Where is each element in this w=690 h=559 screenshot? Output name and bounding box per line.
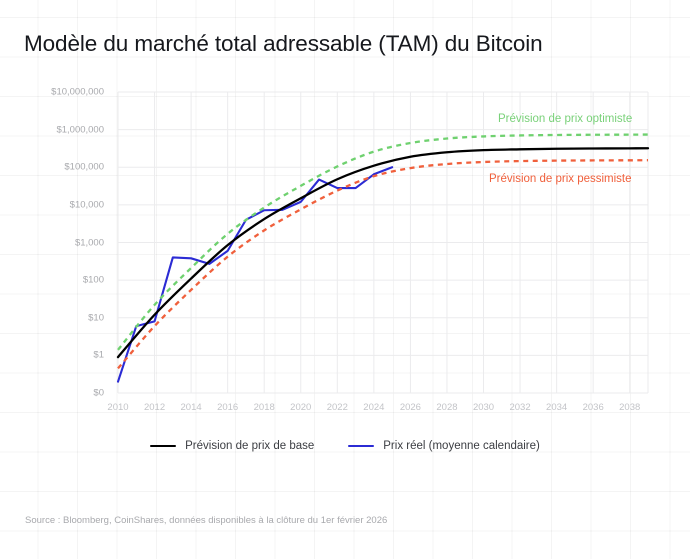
x-axis-tick-label: 2018 [254, 402, 275, 413]
legend-swatch-line-icon [348, 445, 374, 448]
series-lines [118, 135, 648, 382]
series-line [118, 167, 392, 381]
y-axis-tick-label: $10 [0, 312, 104, 323]
x-axis-tick-label: 2034 [546, 402, 567, 413]
x-axis-tick-label: 2016 [217, 402, 238, 413]
x-axis-tick-label: 2038 [619, 402, 640, 413]
x-axis-tick-label: 2010 [107, 402, 128, 413]
x-axis-tick-label: 2036 [583, 402, 604, 413]
x-axis-tick-label: 2032 [509, 402, 530, 413]
x-axis-tick-label: 2022 [327, 402, 348, 413]
y-axis-tick-label: $100 [0, 275, 104, 286]
legend-item-base-forecast: Prévision de prix de base [150, 440, 314, 452]
source-note: Source : Bloomberg, CoinShares, données … [25, 515, 387, 526]
series-line [118, 160, 648, 368]
legend-item-label: Prix réel (moyenne calendaire) [383, 440, 540, 452]
legend-item-actual-price: Prix réel (moyenne calendaire) [348, 440, 540, 452]
y-axis-tick-label: $0 [0, 388, 104, 399]
y-axis-tick-label: $1,000 [0, 237, 104, 248]
y-axis-tick-label: $100,000 [0, 162, 104, 173]
chart-plot-area: $10,000,000$1,000,000$100,000$10,000$1,0… [0, 0, 690, 559]
gridlines [118, 92, 648, 393]
chart-legend: Prévision de prix de base Prix réel (moy… [0, 440, 690, 452]
y-axis-tick-label: $10,000 [0, 199, 104, 210]
x-axis-tick-label: 2012 [144, 402, 165, 413]
y-axis-tick-label: $1,000,000 [0, 124, 104, 135]
annotation-optimistic-forecast: Prévision de prix optimiste [498, 113, 632, 125]
x-axis-tick-label: 2020 [290, 402, 311, 413]
chart-page: Modèle du marché total adressable (TAM) … [0, 0, 690, 559]
x-axis-tick-label: 2024 [363, 402, 384, 413]
x-axis-tick-label: 2014 [181, 402, 202, 413]
x-axis-tick-label: 2030 [473, 402, 494, 413]
y-axis-tick-label: $1 [0, 350, 104, 361]
legend-swatch-line-icon [150, 445, 176, 448]
x-axis-tick-label: 2026 [400, 402, 421, 413]
annotation-pessimistic-forecast: Prévision de prix pessimiste [489, 173, 632, 185]
legend-item-label: Prévision de prix de base [185, 440, 314, 452]
y-axis-tick-label: $10,000,000 [0, 87, 104, 98]
x-axis-tick-label: 2028 [436, 402, 457, 413]
